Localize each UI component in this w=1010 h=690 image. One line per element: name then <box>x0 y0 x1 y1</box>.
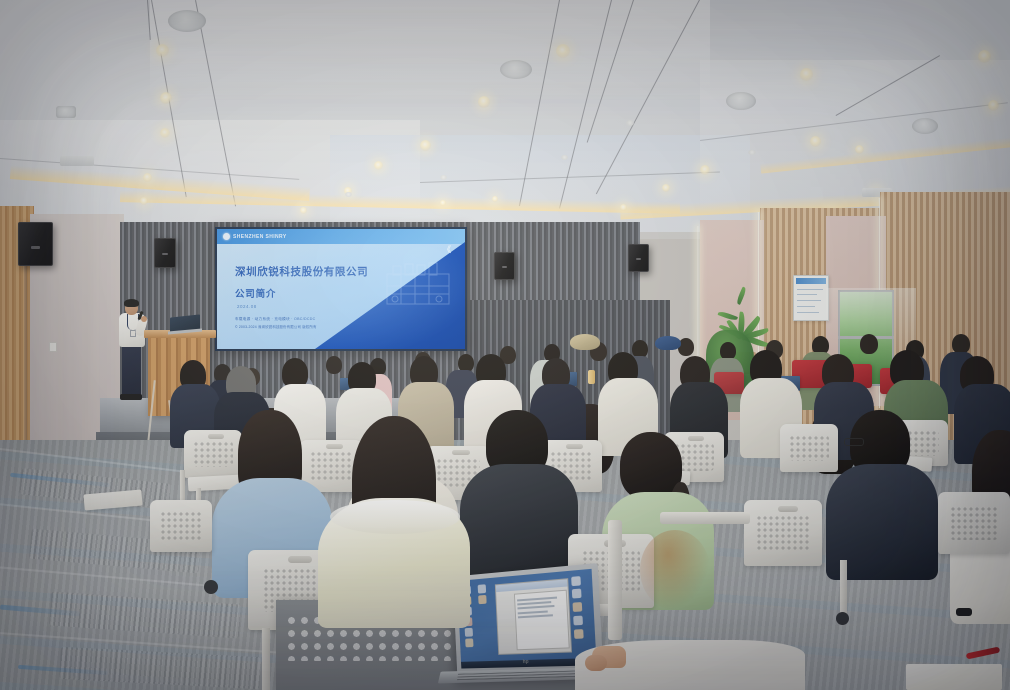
ceiling-downlight <box>662 184 670 192</box>
desktop-icon[interactable] <box>464 627 472 636</box>
slide-title: 深圳欣锐科技股份有限公司 <box>235 264 368 279</box>
list-item[interactable] <box>517 601 551 605</box>
desktop-icon[interactable] <box>573 616 583 626</box>
slide-date: 2024.08 <box>237 304 257 309</box>
desktop-icon[interactable] <box>571 576 581 586</box>
slide-subtitle: 公司简介 <box>235 286 276 300</box>
ceiling-downlight-dim <box>561 155 568 160</box>
chair-caster <box>204 580 218 594</box>
ceiling-downlight <box>160 92 172 104</box>
notice-line <box>797 306 815 307</box>
notice-line <box>797 312 819 313</box>
ceiling-air-vent <box>60 156 94 166</box>
ceiling-downlight <box>156 44 169 57</box>
ceiling-downlight <box>143 173 152 182</box>
ceiling-downlight <box>140 197 148 205</box>
wrist-watch <box>956 608 972 616</box>
hp-logo: hp <box>523 659 529 665</box>
slide-technical-illustration <box>381 256 459 318</box>
presenter-hair <box>124 299 139 307</box>
desktop-icon[interactable] <box>572 589 582 599</box>
slide-footnote-products: 车载电源 · 动力系统 · 充电模块 · OBC/DCDC <box>235 317 316 322</box>
ceiling-downlight <box>478 96 490 108</box>
ceiling-downlight-dim <box>748 150 756 155</box>
presenter-shoes <box>120 394 142 400</box>
chair-leg <box>840 560 847 616</box>
wall-speaker-left <box>18 222 53 266</box>
eyeglasses-icon <box>844 438 864 446</box>
wall-speaker-front-left <box>154 238 176 268</box>
ceiling-downlight <box>300 207 307 214</box>
ceiling-downlight <box>810 136 821 147</box>
audience-blue-cap <box>655 336 681 350</box>
slide-footnote-copyright: © 2003-2024 深圳欣锐科技股份有限公司 版权所有 <box>235 324 317 329</box>
company-logo-icon <box>223 233 230 240</box>
water-bottle <box>588 370 595 384</box>
notice-line <box>797 289 823 290</box>
ceiling-downlight-dim <box>345 192 352 197</box>
ceiling-downlight <box>420 140 431 151</box>
ceiling-downlight <box>492 196 498 202</box>
ceiling-downlight <box>440 200 446 206</box>
ceiling-downlight-dim <box>626 120 634 126</box>
ceiling-speaker <box>168 10 206 32</box>
list-item[interactable] <box>518 614 553 618</box>
notice-line <box>797 300 821 301</box>
ceiling-speaker <box>726 92 756 110</box>
conference-room-photo: SHENZHEN SHINRY 《 深圳欣锐科技股份有限公司 公司简介 2024… <box>0 0 1010 690</box>
chair-caster <box>836 612 849 625</box>
ruffle-collar <box>330 500 460 534</box>
ceiling-downlight <box>556 44 570 58</box>
notebook <box>906 664 1002 690</box>
ceiling-air-diffuser <box>56 106 76 118</box>
training-chair <box>938 492 1010 554</box>
desktop-icon[interactable] <box>477 584 485 593</box>
wall-speaker-right <box>628 244 649 272</box>
window-list-pane[interactable] <box>514 590 569 650</box>
ceiling-downlight <box>855 145 864 154</box>
desktop-icon[interactable] <box>573 602 583 612</box>
ceiling-downlight <box>620 204 627 211</box>
company-logo-text: SHENZHEN SHINRY <box>233 234 287 240</box>
training-chair <box>150 500 212 552</box>
chair-handle <box>778 506 798 512</box>
laptop-screen[interactable]: hp <box>457 569 596 669</box>
wall-speaker-front-right <box>494 252 515 280</box>
ceiling-downlight <box>800 68 813 81</box>
presenter-legs <box>122 345 141 397</box>
ceiling-downlight <box>374 161 383 170</box>
wall-notice-board <box>793 275 829 321</box>
ceiling-downlight <box>988 100 999 111</box>
desktop-icon[interactable] <box>478 595 487 604</box>
slide-corner-mark: 《 <box>443 244 451 255</box>
foreground-person-hand <box>585 655 607 671</box>
wall-switch-plate <box>49 342 57 352</box>
hair-highlight <box>640 530 710 610</box>
audience-tan-cap <box>570 334 600 350</box>
ceiling-panel <box>150 0 710 95</box>
open-application-window[interactable] <box>495 579 571 656</box>
ceiling-downlight <box>160 128 170 138</box>
list-item[interactable] <box>518 610 548 614</box>
notice-header-bar <box>796 278 826 284</box>
desktop-icon[interactable] <box>465 638 473 647</box>
chair-handle <box>288 556 312 563</box>
plant-frond <box>735 287 747 305</box>
presenter-hand <box>141 316 147 322</box>
ceiling-downlight <box>700 165 710 175</box>
ceiling-speaker <box>912 118 938 134</box>
list-item[interactable] <box>517 605 554 609</box>
notice-line <box>797 294 817 295</box>
chair-leg <box>262 628 270 690</box>
ceiling-downlight-dim <box>440 175 447 180</box>
ceiling-downlight <box>978 50 991 63</box>
ceiling-speaker <box>500 60 532 79</box>
desktop-icon[interactable] <box>574 629 584 639</box>
